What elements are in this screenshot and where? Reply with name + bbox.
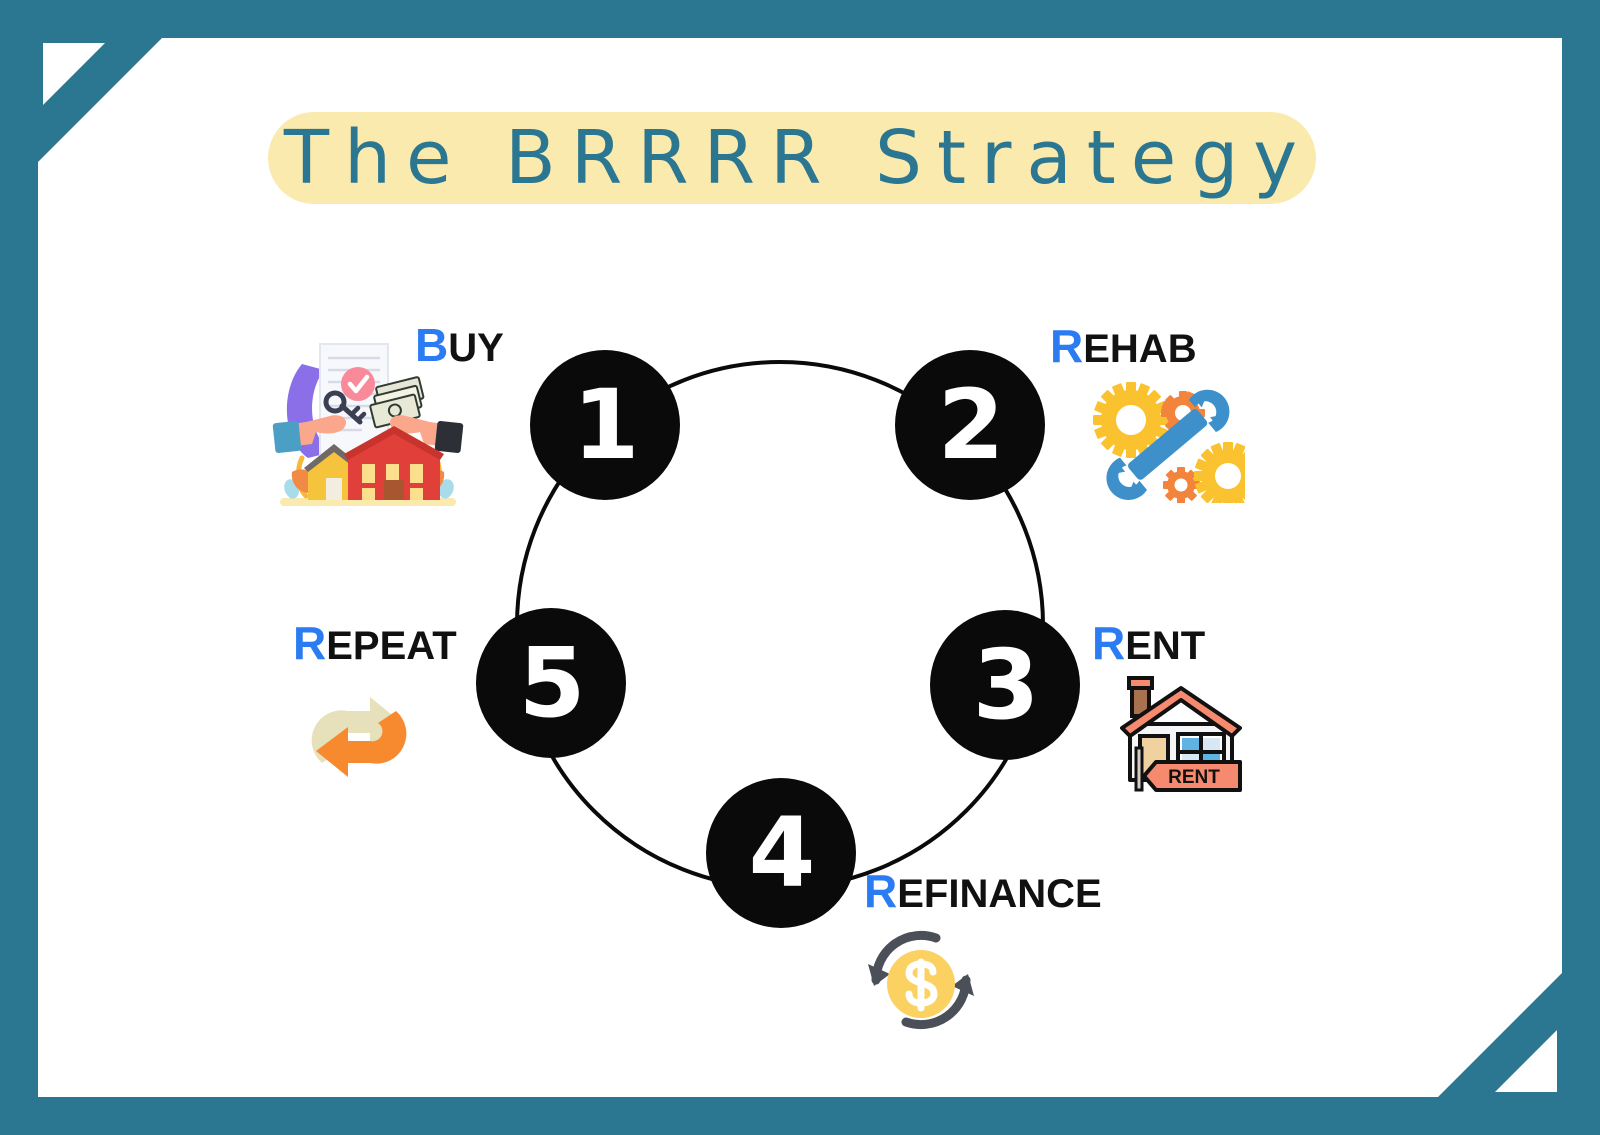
step-label-repeat-rest: EPEAT — [326, 624, 456, 668]
corner-notch-bottom-right — [1495, 1030, 1557, 1092]
brrrr-strategy-infographic: The BRRRR Strategy 1 2 3 4 5 BUY REHAB R… — [0, 0, 1600, 1135]
step-node-5[interactable]: 5 — [476, 608, 626, 758]
title-banner: The BRRRR Strategy — [268, 112, 1316, 204]
page-title: The BRRRR Strategy — [272, 121, 1312, 195]
step-node-4[interactable]: 4 — [706, 778, 856, 928]
step-node-1[interactable]: 1 — [530, 350, 680, 500]
frame-band-bottom — [0, 1097, 1600, 1135]
gears-wrench-icon — [1085, 378, 1245, 503]
step-label-rehab-rest: EHAB — [1083, 327, 1196, 371]
step-label-rent-rest: ENT — [1125, 624, 1205, 668]
step-label-rehab: REHAB — [1050, 323, 1197, 369]
rent-sign-text: RENT — [1168, 767, 1220, 788]
house-for-rent-sign-icon: RENT — [1118, 676, 1244, 794]
step-number-4: 4 — [749, 805, 814, 901]
repeat-arrows-icon — [300, 685, 418, 785]
step-label-refinance: REFINANCE — [864, 868, 1102, 914]
step-label-repeat: REPEAT — [293, 620, 457, 666]
step-number-3: 3 — [973, 637, 1038, 733]
step-number-5: 5 — [519, 635, 584, 731]
step-node-3[interactable]: 3 — [930, 610, 1080, 760]
step-label-rent-lead: R — [1092, 617, 1125, 669]
step-label-refinance-lead: R — [864, 865, 897, 917]
house-purchase-handshake-icon — [272, 330, 464, 510]
step-label-rent: RENT — [1092, 620, 1205, 666]
step-number-2: 2 — [938, 377, 1003, 473]
step-label-repeat-lead: R — [293, 617, 326, 669]
step-label-rehab-lead: R — [1050, 320, 1083, 372]
step-node-2[interactable]: 2 — [895, 350, 1045, 500]
step-label-refinance-rest: EFINANCE — [897, 872, 1101, 916]
dollar-coin-refresh-icon — [862, 930, 980, 1030]
step-number-1: 1 — [573, 377, 638, 473]
frame-band-top — [0, 0, 1600, 38]
corner-notch-top-left — [43, 43, 105, 105]
